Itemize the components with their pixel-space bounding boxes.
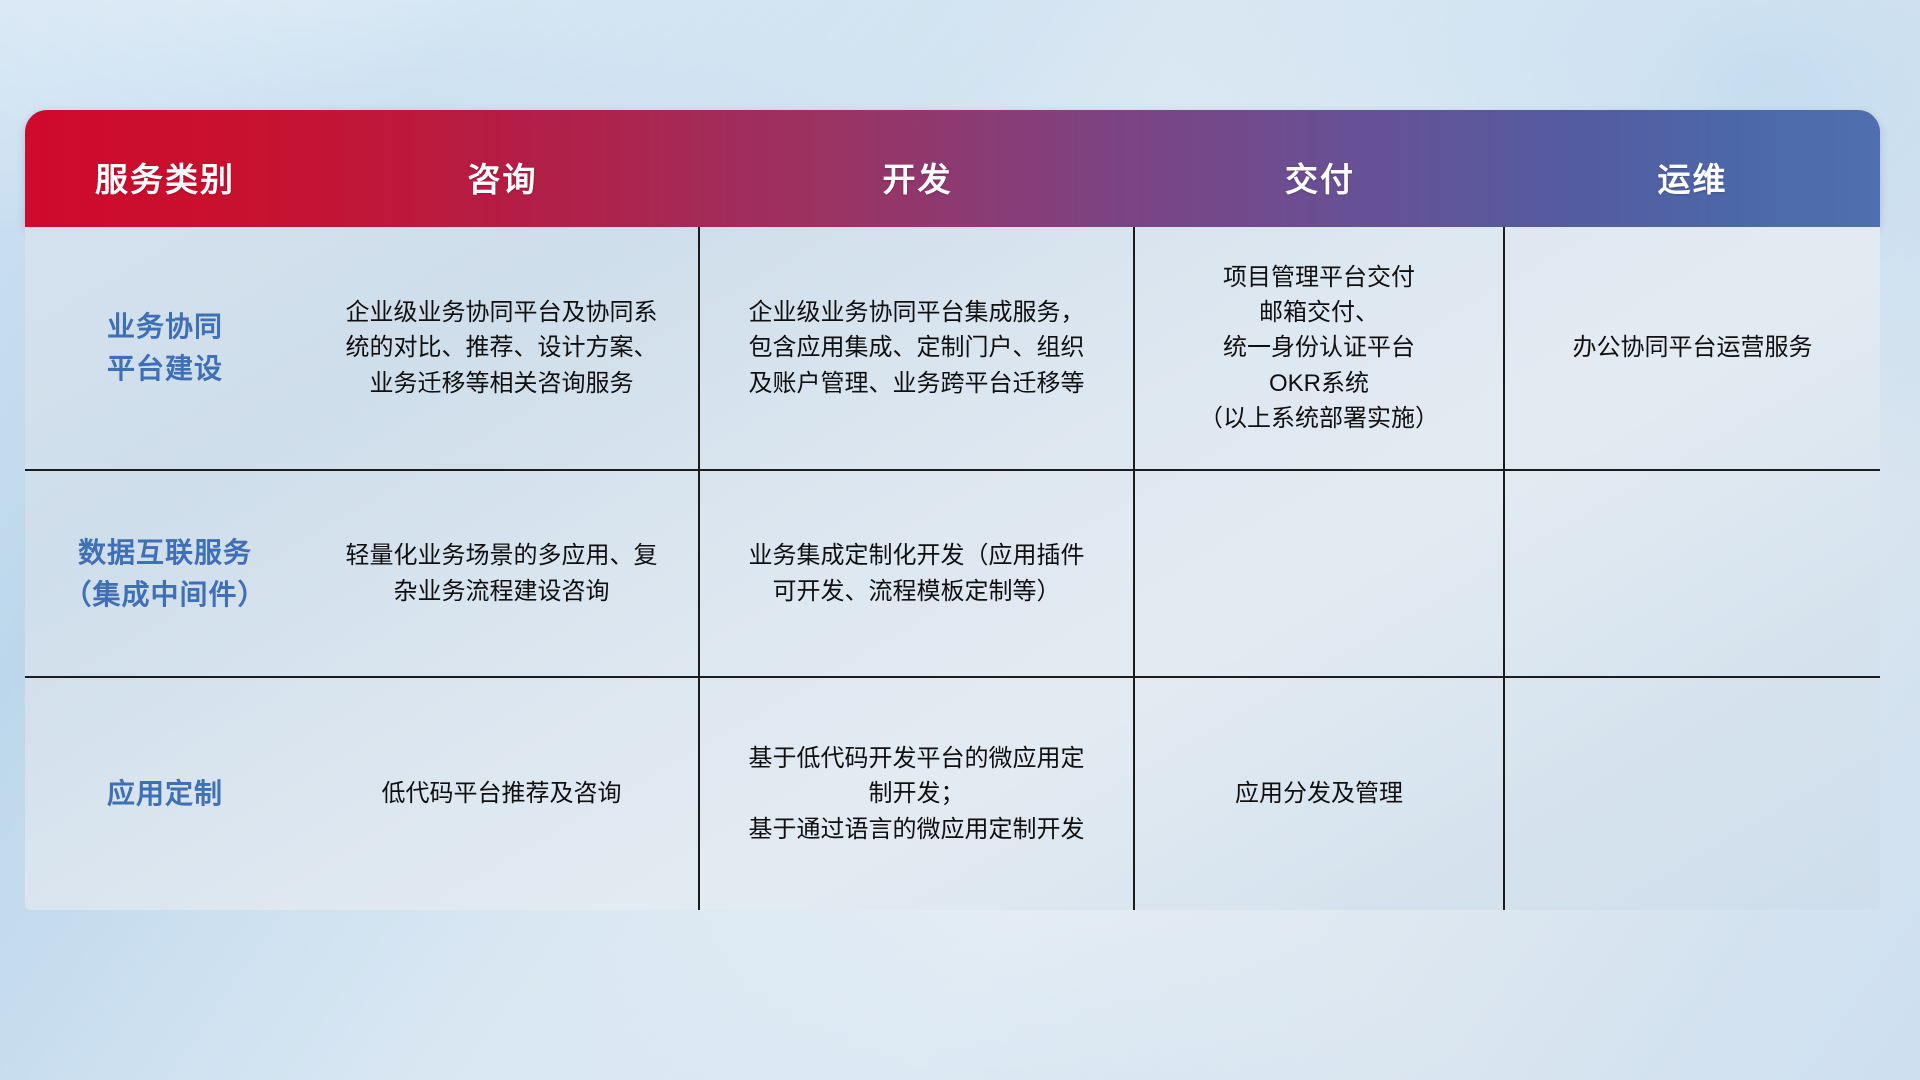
cell-development-r2: 基于低代码开发平台的微应用定 制开发； 基于通过语言的微应用定制开发 [700, 678, 1135, 910]
cell-delivery-r1 [1135, 471, 1505, 676]
cell-operations-r1 [1505, 471, 1880, 676]
column-header-operations: 运维 [1505, 110, 1880, 227]
cell-consulting-r0: 企业级业务协同平台及协同系 统的对比、推荐、设计方案、 业务迁移等相关咨询服务 [305, 227, 700, 469]
table-row: 业务协同 平台建设 企业级业务协同平台及协同系 统的对比、推荐、设计方案、 业务… [25, 227, 1880, 471]
row-label-data-interconnect: 数据互联服务 （集成中间件） [25, 471, 305, 676]
cell-development-r1: 业务集成定制化开发（应用插件 可开发、流程模板定制等） [700, 471, 1135, 676]
table-body: 业务协同 平台建设 企业级业务协同平台及协同系 统的对比、推荐、设计方案、 业务… [25, 227, 1880, 910]
row-label-business-collaboration: 业务协同 平台建设 [25, 227, 305, 469]
cell-delivery-r2: 应用分发及管理 [1135, 678, 1505, 910]
cell-operations-r0: 办公协同平台运营服务 [1505, 227, 1880, 469]
column-header-development: 开发 [700, 110, 1135, 227]
column-header-consulting: 咨询 [305, 110, 700, 227]
column-header-delivery: 交付 [1135, 110, 1505, 227]
cell-consulting-r2: 低代码平台推荐及咨询 [305, 678, 700, 910]
table-header-row: 服务类别 咨询 开发 交付 运维 [25, 110, 1880, 227]
table-row: 应用定制 低代码平台推荐及咨询 基于低代码开发平台的微应用定 制开发； 基于通过… [25, 678, 1880, 910]
cell-operations-r2 [1505, 678, 1880, 910]
table-row: 数据互联服务 （集成中间件） 轻量化业务场景的多应用、复 杂业务流程建设咨询 业… [25, 471, 1880, 678]
column-header-category: 服务类别 [25, 110, 305, 227]
cell-development-r0: 企业级业务协同平台集成服务， 包含应用集成、定制门户、组织 及账户管理、业务跨平… [700, 227, 1135, 469]
cell-consulting-r1: 轻量化业务场景的多应用、复 杂业务流程建设咨询 [305, 471, 700, 676]
services-matrix-table: 服务类别 咨询 开发 交付 运维 业务协同 平台建设 企业级业务协同平台及协同系… [25, 110, 1880, 910]
row-label-app-customization: 应用定制 [25, 678, 305, 910]
cell-delivery-r0: 项目管理平台交付 邮箱交付、 统一身份认证平台 OKR系统 （以上系统部署实施） [1135, 227, 1505, 469]
